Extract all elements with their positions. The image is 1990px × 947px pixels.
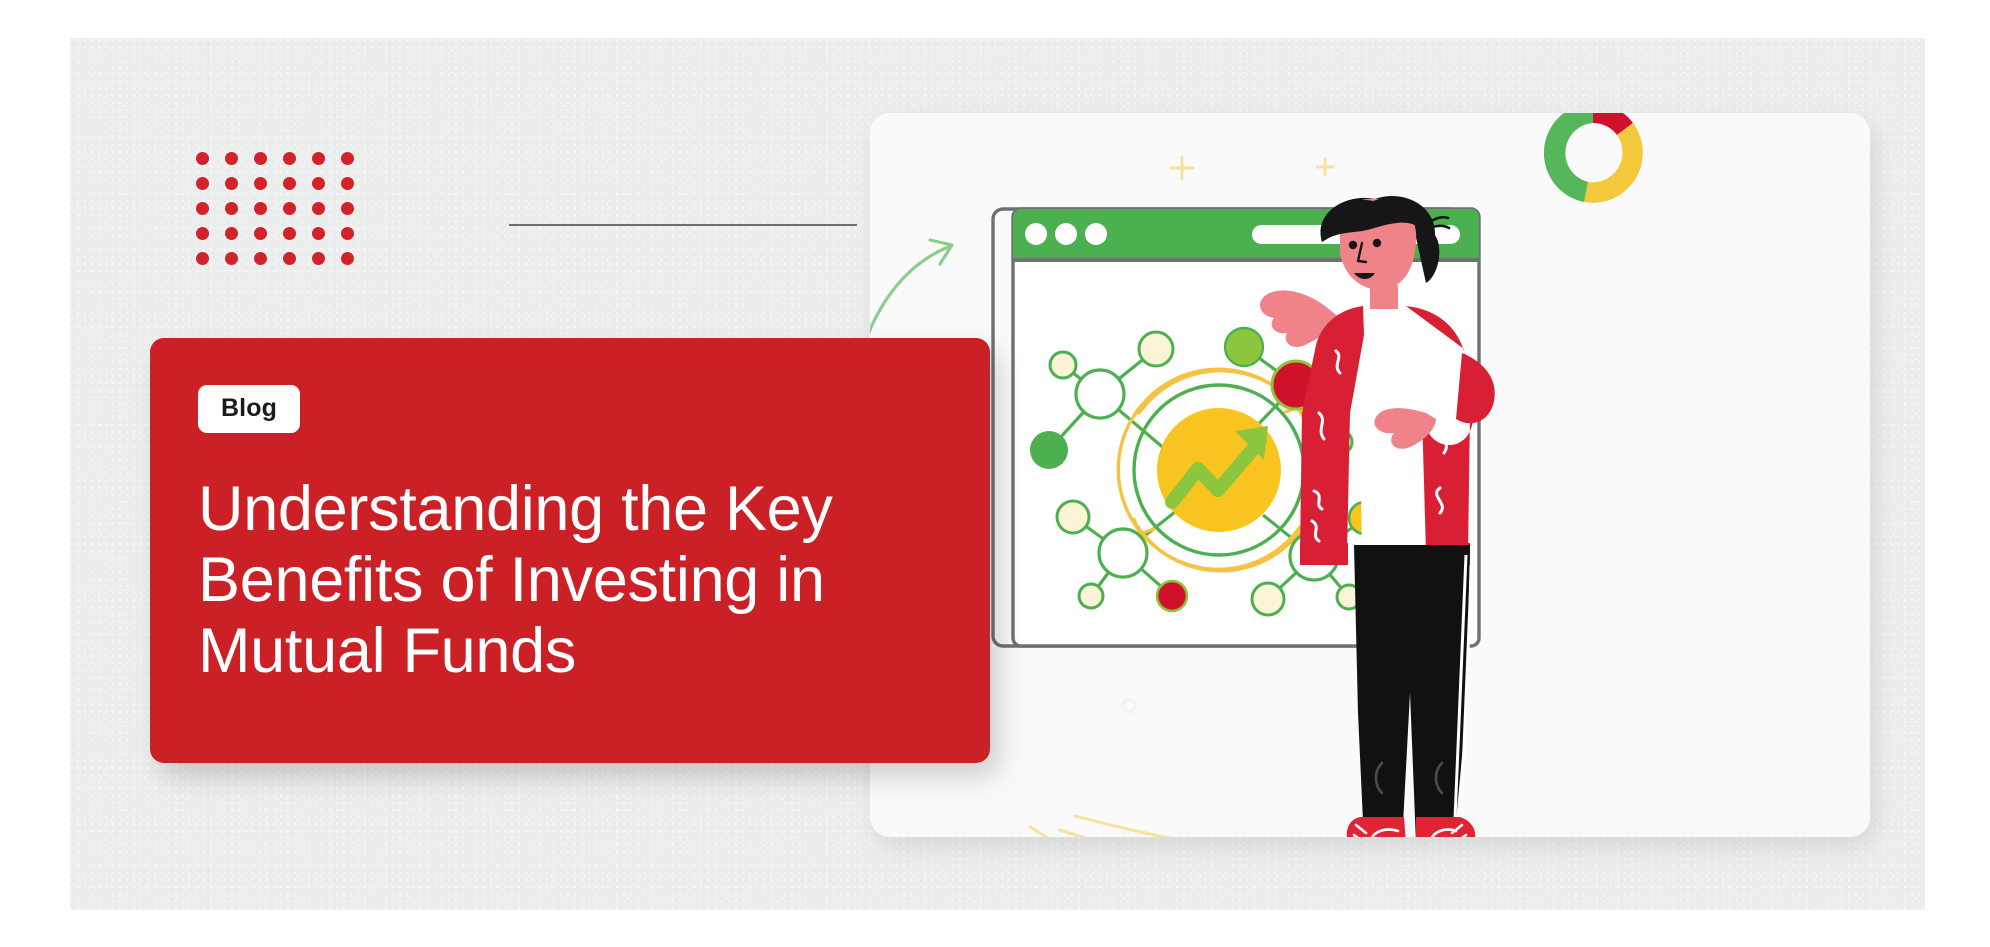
speed-lines-decoration	[1052, 816, 1226, 837]
dot-grid-dot	[196, 252, 209, 265]
dot-grid-dot	[225, 177, 238, 190]
dot-grid-dot	[312, 227, 325, 240]
window-dot-2	[1055, 223, 1077, 245]
headline-card: Blog Understanding the Key Benefits of I…	[150, 338, 990, 763]
dot-grid-dot	[196, 202, 209, 215]
donut-slice-green	[1544, 113, 1593, 202]
blog-badge[interactable]: Blog	[198, 385, 300, 433]
dot-grid-dot	[254, 252, 267, 265]
illustration-card	[870, 113, 1870, 837]
window-dot-1	[1025, 223, 1047, 245]
donut-chart	[1544, 113, 1643, 203]
dot-grid-dot	[283, 177, 296, 190]
banner-root: Blog Understanding the Key Benefits of I…	[0, 0, 1990, 947]
sparkle-circle-2	[1123, 700, 1135, 712]
dot-grid-dot	[341, 152, 354, 165]
dot-grid-dot	[312, 177, 325, 190]
dot-grid-dot	[341, 177, 354, 190]
growth-circle	[1157, 408, 1281, 532]
illustration-artwork	[870, 113, 1870, 837]
dot-grid-dot	[283, 202, 296, 215]
dot-grid-decoration	[196, 152, 350, 264]
header-rule-decoration	[509, 224, 857, 226]
dot-grid-dot	[225, 252, 238, 265]
dot-grid-dot	[225, 152, 238, 165]
dot-grid-dot	[312, 152, 325, 165]
dot-grid-dot	[341, 252, 354, 265]
dot-grid-dot	[312, 252, 325, 265]
window-dot-3	[1085, 223, 1107, 245]
dot-grid-dot	[283, 227, 296, 240]
dot-grid-dot	[196, 152, 209, 165]
dot-grid-dot	[254, 202, 267, 215]
dot-grid-dot	[341, 227, 354, 240]
dot-grid-dot	[254, 227, 267, 240]
dot-grid-dot	[196, 227, 209, 240]
dot-grid-dot	[341, 202, 354, 215]
dot-grid-dot	[283, 252, 296, 265]
dot-grid-dot	[196, 177, 209, 190]
dot-grid-dot	[254, 177, 267, 190]
dot-grid-dot	[254, 152, 267, 165]
donut-slice-yellow	[1584, 123, 1643, 203]
page-title: Understanding the Key Benefits of Invest…	[198, 474, 958, 688]
dot-grid-dot	[312, 202, 325, 215]
dot-grid-dot	[283, 152, 296, 165]
dot-grid-dot	[225, 227, 238, 240]
dot-grid-dot	[225, 202, 238, 215]
